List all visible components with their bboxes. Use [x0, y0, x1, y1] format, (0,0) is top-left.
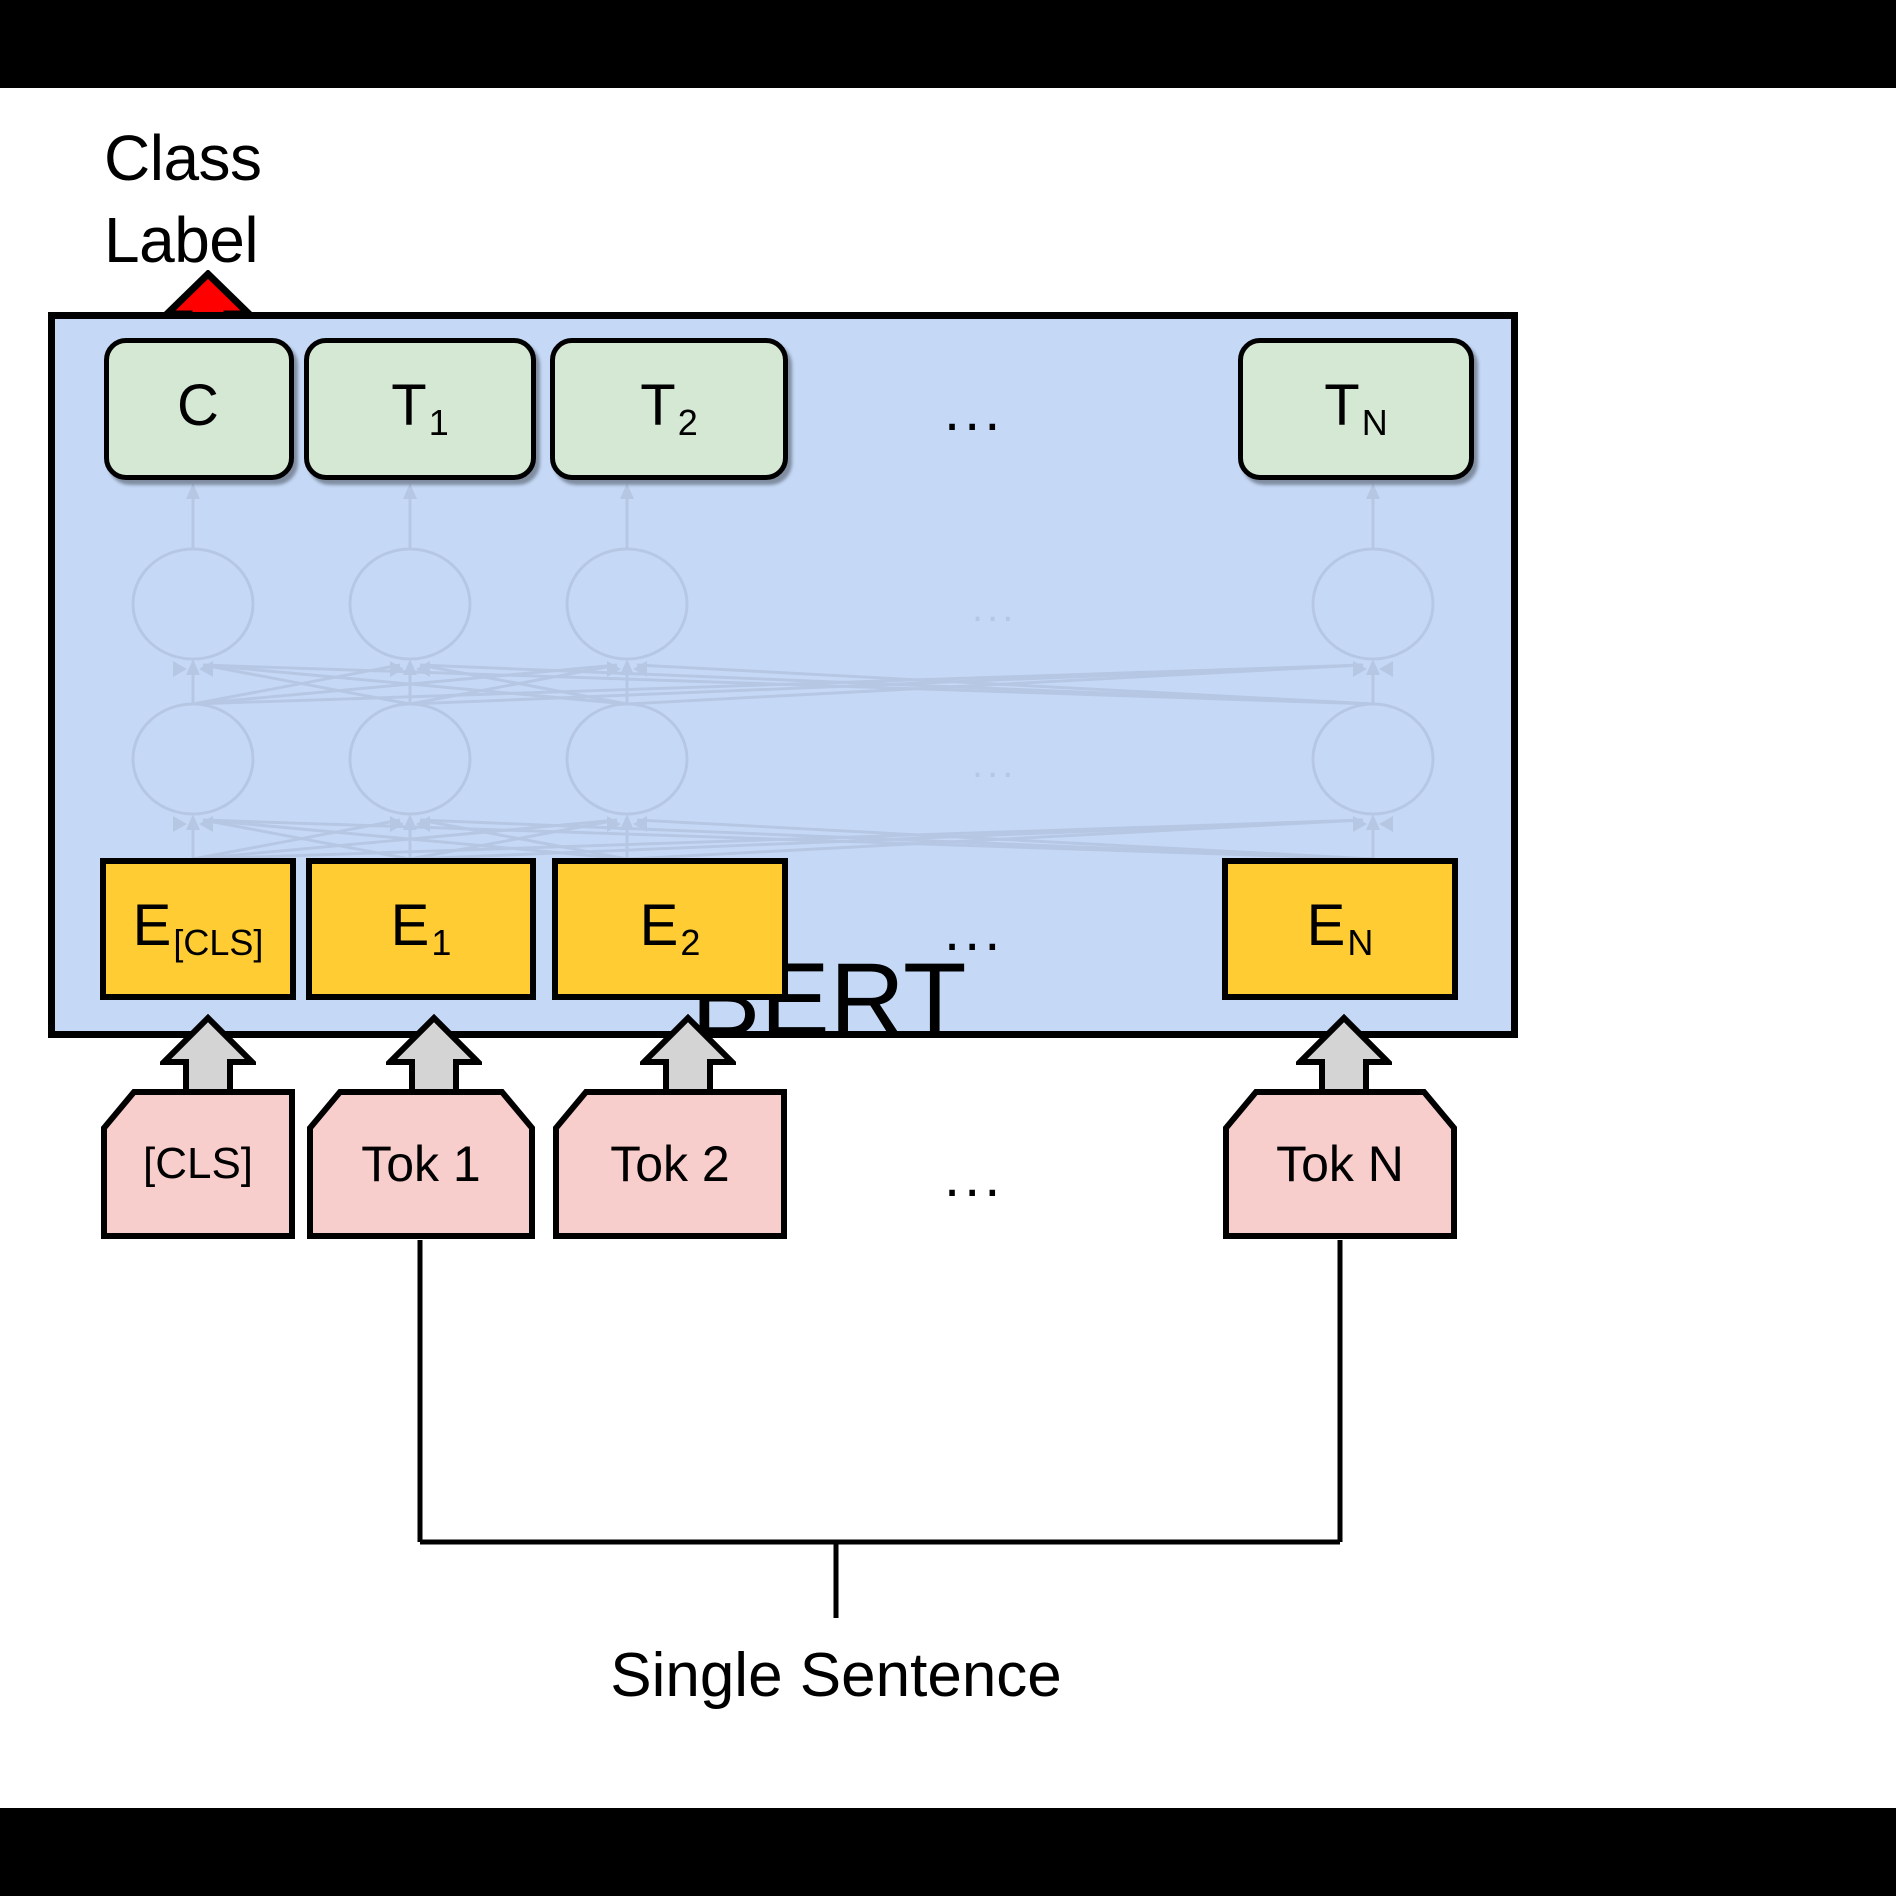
diagram-canvas: Class Label — [0, 0, 1896, 1896]
sentence-caption: Single Sentence — [556, 1640, 1116, 1711]
sentence-bracket — [0, 0, 1896, 1896]
